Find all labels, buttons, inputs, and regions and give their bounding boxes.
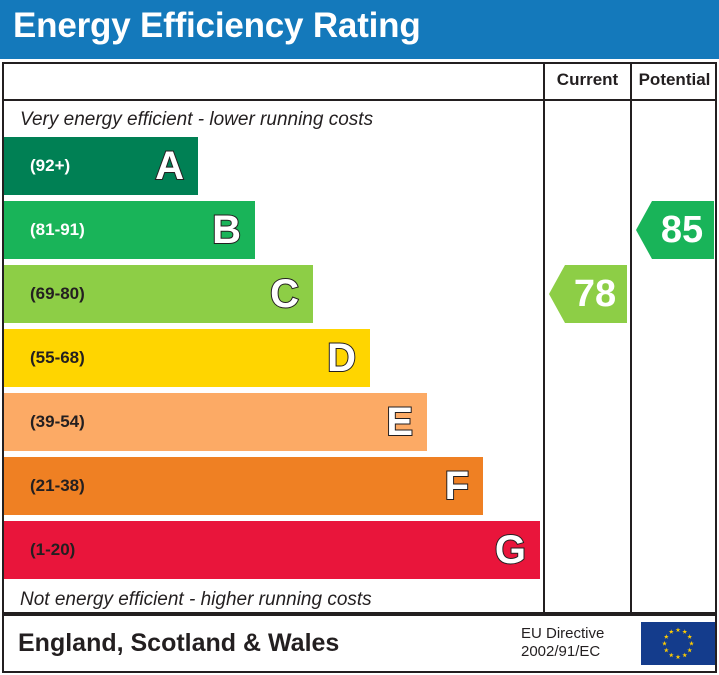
rating-band-b: (81-91)B [4,201,255,259]
epc-energy-efficiency-chart: Energy Efficiency Rating Current Potenti… [0,0,719,675]
band-range-b: (81-91) [30,220,85,240]
rating-band-g: (1-20)G [4,521,540,579]
rating-bands: (92+)A(81-91)B(69-80)C(55-68)D(39-54)E(2… [4,137,541,589]
band-letter-d: D [327,338,356,378]
footer-directive-line2: 2002/91/EC [521,643,604,661]
rating-band-c: (69-80)C [4,265,313,323]
caption-bottom: Not energy efficient - higher running co… [20,589,372,611]
footer-region-label: England, Scotland & Wales [18,629,339,658]
band-range-f: (21-38) [30,476,85,496]
band-letter-e: E [386,402,413,442]
band-letter-a: A [155,146,184,186]
band-range-c: (69-80) [30,284,85,304]
caption-top: Very energy efficient - lower running co… [20,109,373,131]
rating-band-e: (39-54)E [4,393,427,451]
band-range-g: (1-20) [30,540,75,560]
rating-band-f: (21-38)F [4,457,483,515]
rating-value-current: 78 [574,275,616,313]
footer-directive-line1: EU Directive [521,625,604,643]
rating-marker-potential: 85 [636,201,714,259]
rating-band-a: (92+)A [4,137,198,195]
rating-value-potential: 85 [661,211,703,249]
footer-directive-label: EU Directive 2002/91/EC [521,625,604,662]
eu-flag-icon [641,622,715,665]
footer-bar: England, Scotland & Wales EU Directive 2… [2,614,717,673]
column-divider-current [543,64,545,612]
band-letter-f: F [445,466,469,506]
band-range-e: (39-54) [30,412,85,432]
rating-marker-current: 78 [549,265,627,323]
title-bar: Energy Efficiency Rating [0,0,719,59]
band-letter-g: G [495,530,526,570]
column-header-potential: Potential [632,70,717,90]
column-divider-potential [630,64,632,612]
column-header-current: Current [545,70,630,90]
rating-band-d: (55-68)D [4,329,370,387]
header-row-divider [4,99,715,101]
band-letter-c: C [270,274,299,314]
band-range-a: (92+) [30,156,70,176]
chart-frame: Current Potential Very energy efficient … [2,62,717,614]
page-title: Energy Efficiency Rating [13,6,421,46]
band-range-d: (55-68) [30,348,85,368]
band-letter-b: B [212,210,241,250]
